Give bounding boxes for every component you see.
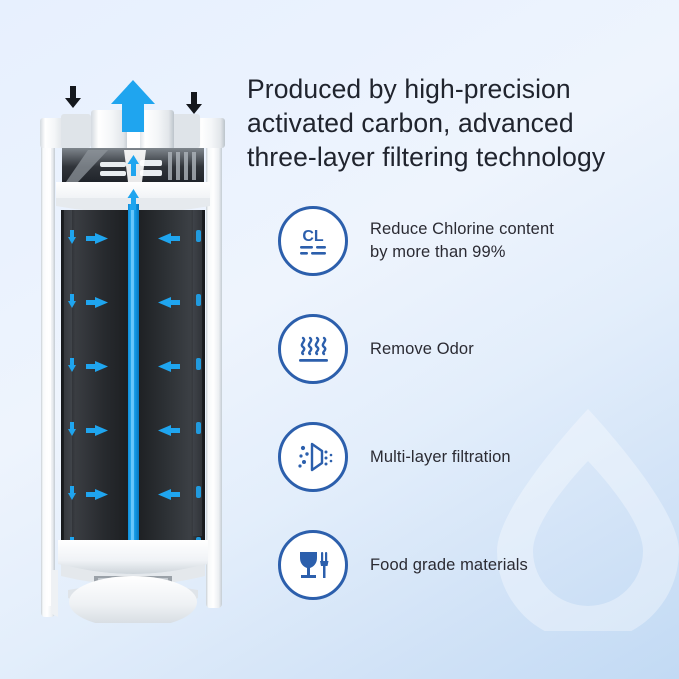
feature-label-chlorine: Reduce Chlorine content by more than 99% bbox=[370, 218, 554, 264]
food-grade-glass-fork-icon bbox=[278, 530, 348, 600]
chlorine-cl-icon: CL bbox=[278, 206, 348, 276]
multi-layer-filter-icon bbox=[278, 422, 348, 492]
headline-line-1: Produced by high-precision bbox=[247, 72, 667, 106]
feature-label-filtration: Multi-layer filtration bbox=[370, 446, 511, 469]
headline-line-2: activated carbon, advanced bbox=[247, 106, 667, 140]
feature-row-filtration: Multi-layer filtration bbox=[278, 421, 668, 493]
feature-row-chlorine: CL Reduce Chlorine content by more than … bbox=[278, 205, 668, 277]
feature-label-odor-line-1: Remove Odor bbox=[370, 338, 474, 361]
feature-label-food-grade-line-1: Food grade materials bbox=[370, 554, 528, 577]
feature-label-odor: Remove Odor bbox=[370, 338, 474, 361]
feature-list: CL Reduce Chlorine content by more than … bbox=[278, 205, 668, 637]
feature-label-food-grade: Food grade materials bbox=[370, 554, 528, 577]
headline-line-3: three-layer filtering technology bbox=[247, 140, 667, 174]
water-filter-cutaway bbox=[28, 78, 238, 623]
headline: Produced by high-precision activated car… bbox=[247, 72, 667, 174]
feature-row-food-grade: Food grade materials bbox=[278, 529, 668, 601]
feature-row-odor: Remove Odor bbox=[278, 313, 668, 385]
feature-label-chlorine-line-2: by more than 99% bbox=[370, 241, 554, 264]
odor-steam-icon bbox=[278, 314, 348, 384]
svg-text:CL: CL bbox=[302, 228, 324, 245]
feature-label-filtration-line-1: Multi-layer filtration bbox=[370, 446, 511, 469]
feature-label-chlorine-line-1: Reduce Chlorine content bbox=[370, 218, 554, 241]
product-infographic: Produced by high-precision activated car… bbox=[0, 0, 679, 679]
